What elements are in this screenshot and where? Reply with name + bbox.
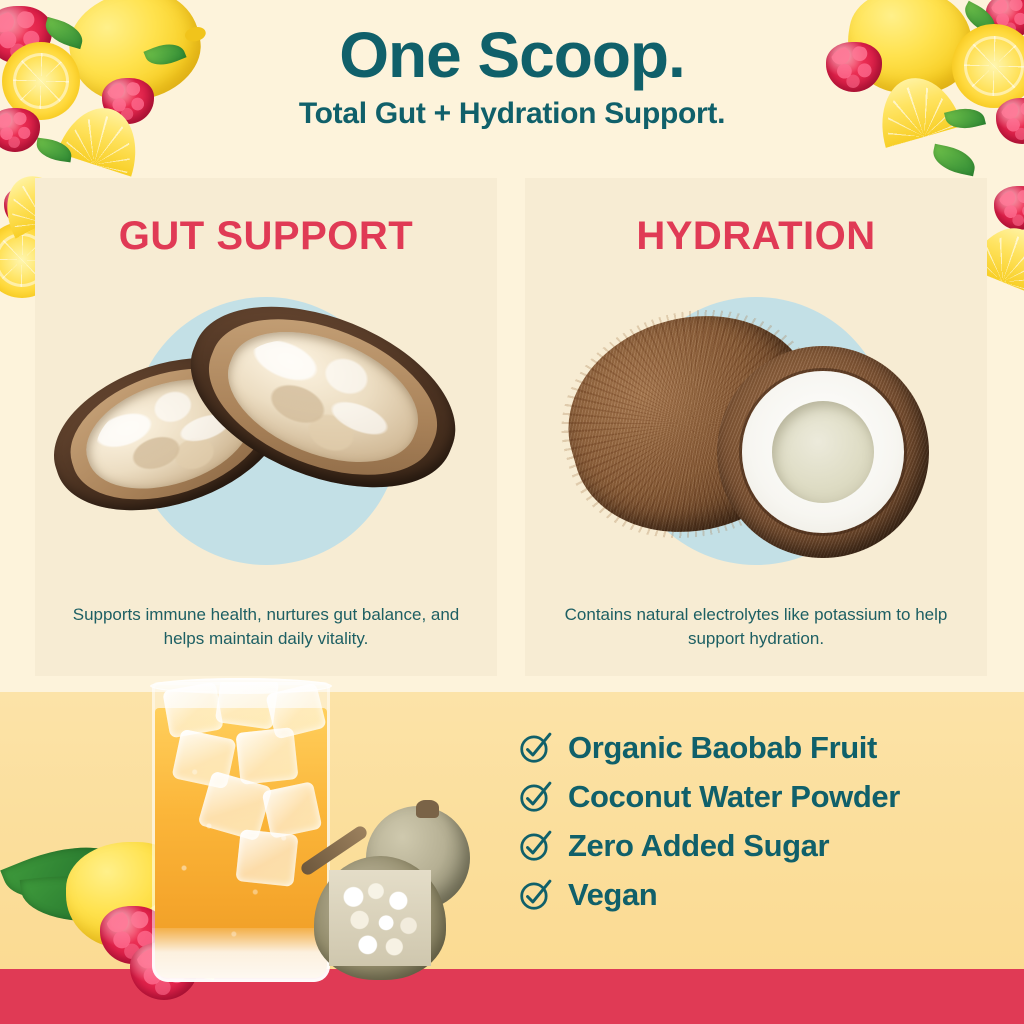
coconut-half xyxy=(717,346,929,558)
drink-glass xyxy=(152,682,330,982)
feature-panel-gut-support: GUT SUPPORT Supports immune health, nurt… xyxy=(35,178,497,676)
check-circle-icon xyxy=(518,731,552,765)
list-item: Vegan xyxy=(518,877,1008,913)
panel-caption: Supports immune health, nurtures gut bal… xyxy=(63,603,469,652)
check-circle-icon xyxy=(518,829,552,863)
check-circle-icon xyxy=(518,878,552,912)
baobab-image xyxy=(35,272,497,590)
benefit-label: Zero Added Sugar xyxy=(568,828,829,864)
list-item: Coconut Water Powder xyxy=(518,779,1008,815)
benefit-label: Organic Baobab Fruit xyxy=(568,730,877,766)
benefits-list: Organic Baobab Fruit Coconut Water Powde… xyxy=(518,730,1008,926)
list-item: Organic Baobab Fruit xyxy=(518,730,1008,766)
panel-title: GUT SUPPORT xyxy=(35,214,497,259)
page-title: One Scoop. xyxy=(0,22,1024,89)
benefit-label: Vegan xyxy=(568,877,657,913)
headline-block: One Scoop. Total Gut + Hydration Support… xyxy=(0,22,1024,131)
baobab-open-with-pulp xyxy=(314,856,446,980)
coconut-image xyxy=(525,272,987,590)
check-circle-icon xyxy=(518,780,552,814)
panel-title: HYDRATION xyxy=(525,214,987,259)
benefit-label: Coconut Water Powder xyxy=(568,779,900,815)
list-item: Zero Added Sugar xyxy=(518,828,1008,864)
panel-caption: Contains natural electrolytes like potas… xyxy=(553,603,959,652)
hero-drink-image xyxy=(0,660,520,1024)
marketing-graphic: One Scoop. Total Gut + Hydration Support… xyxy=(0,0,1024,1024)
page-subtitle: Total Gut + Hydration Support. xyxy=(0,97,1024,131)
feature-panel-hydration: HYDRATION Contains natural electrolytes … xyxy=(525,178,987,676)
